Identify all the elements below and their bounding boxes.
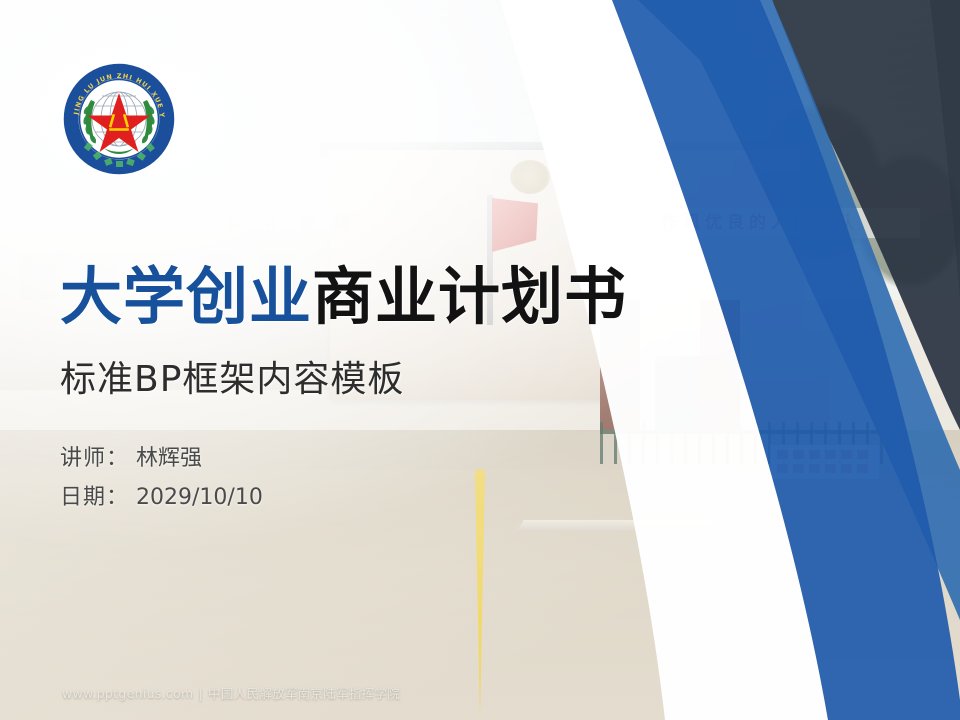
presenter-label: 讲师： <box>60 446 129 471</box>
date-value: 2029/10/10 <box>136 485 263 510</box>
footer-separator: | <box>199 686 204 701</box>
date-label: 日期： <box>60 485 129 510</box>
slide-subtitle: 标准BP框架内容模板 <box>60 350 404 402</box>
presenter-name: 林辉强 <box>136 446 202 471</box>
footer-organization: 中国人民解放军南京陆军指挥学院 <box>208 686 400 701</box>
title-rest: 商业计划书 <box>312 260 627 333</box>
slide-footer: www.pptgenius.com|中国人民解放军南京陆军指挥学院 <box>62 683 400 702</box>
presenter-row: 讲师： 林辉强 <box>60 440 263 479</box>
academy-logo: NAN JING LU JUN ZHI HUI XUE YUAN <box>60 60 178 178</box>
slide-meta: 讲师： 林辉强 日期： 2029/10/10 <box>60 440 263 517</box>
title-highlight: 大学创业 <box>60 260 312 333</box>
presentation-slide: 学 风 优 良 计 划 优 作风优良的人民军队 <box>0 0 960 720</box>
date-row: 日期： 2029/10/10 <box>60 479 263 518</box>
footer-website[interactable]: www.pptgenius.com <box>62 686 194 701</box>
slide-title: 大学创业商业计划书 <box>60 264 627 329</box>
